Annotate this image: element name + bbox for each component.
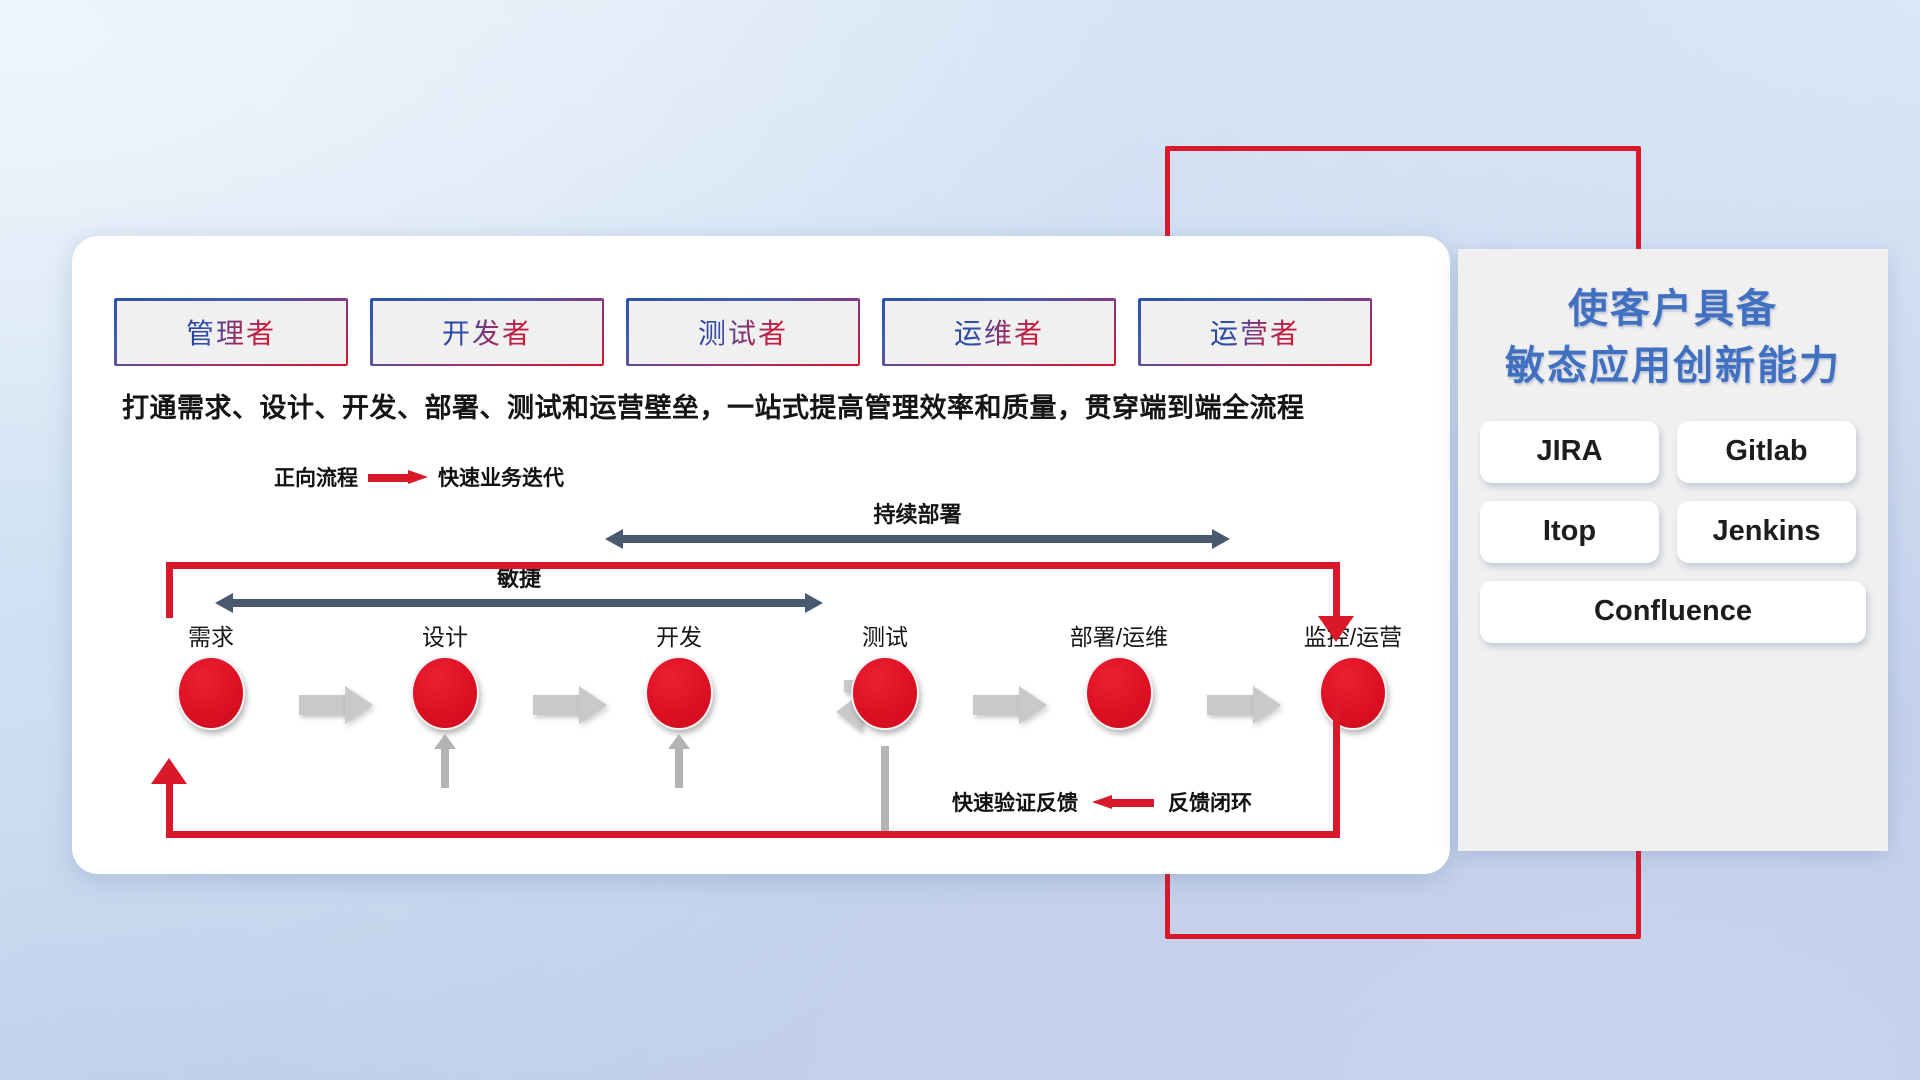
- panel-title: 使客户具备 敏态应用创新能力: [1458, 281, 1888, 395]
- panel-title-line-2: 敏态应用创新能力: [1458, 338, 1888, 395]
- tool-chip-itop[interactable]: Itop: [1480, 501, 1659, 563]
- role-chip-tester[interactable]: 测试者: [626, 298, 860, 366]
- pipeline-arrow-icon: [973, 686, 1047, 722]
- role-chip-operations[interactable]: 运营者: [1138, 298, 1372, 366]
- arrow-shaft: [973, 695, 1021, 715]
- arrow-shaft: [619, 535, 1216, 543]
- pipeline-node-label: 开发: [614, 618, 744, 652]
- pipeline-arrow-icon: [1207, 686, 1281, 722]
- double-arrow-icon: [605, 529, 1230, 549]
- loop-line-right-top: [1333, 562, 1340, 622]
- slide-canvas: 管理者 开发者 测试者 运维者 运营者 打通需求、设计、开发、部署、测试和运营壁…: [0, 0, 1920, 1080]
- headline-text: 打通需求、设计、开发、部署、测试和运营壁垒，一站式提高管理效率和质量，贯穿端到端…: [122, 386, 1422, 425]
- arrow-head-right-icon: [1253, 686, 1281, 724]
- role-chip-label: 运维者: [954, 312, 1044, 352]
- pipeline-node-design[interactable]: 设计: [380, 618, 510, 730]
- span-label: 持续部署: [605, 497, 1230, 529]
- panel-title-line-1: 使客户具备: [1458, 281, 1888, 338]
- pipeline-node-stem: [675, 746, 683, 788]
- pipeline-node-stem: [881, 746, 889, 833]
- pipeline-node-label: 设计: [380, 618, 510, 652]
- pipeline-node-label: 测试: [820, 618, 950, 652]
- arrow-shaft: [1207, 695, 1255, 715]
- arrow-head-right-icon: [579, 686, 607, 724]
- loop-line-top: [166, 562, 1340, 569]
- tool-chip-grid: JIRA Gitlab Itop Jenkins Confluence: [1480, 421, 1866, 643]
- pipeline-node-dot-icon: [851, 656, 919, 730]
- role-chip-developer[interactable]: 开发者: [370, 298, 604, 366]
- span-continuous-deployment: 持续部署: [605, 529, 1230, 549]
- arrow-left-red-icon: [1092, 795, 1154, 810]
- loop-arrowhead-down-icon: [1318, 616, 1354, 642]
- pipeline-arrow-icon: [299, 686, 373, 722]
- arrow-right-red-icon: [368, 470, 428, 485]
- role-chip-manager[interactable]: 管理者: [114, 298, 348, 366]
- role-chip-label: 测试者: [698, 312, 788, 352]
- role-chip-label: 管理者: [186, 312, 276, 352]
- legend-forward-source-label: 正向流程: [274, 462, 358, 492]
- stem-arrowhead-up-icon: [668, 734, 690, 749]
- legend-feedback-source-label: 反馈闭环: [1168, 787, 1252, 817]
- role-chip-label: 运营者: [1210, 312, 1300, 352]
- arrow-shaft: [299, 695, 347, 715]
- tool-chip-confluence[interactable]: Confluence: [1480, 581, 1866, 643]
- pipeline-node-dot-icon: [411, 656, 479, 730]
- tool-chip-jira[interactable]: JIRA: [1480, 421, 1659, 483]
- pipeline-node-dot-icon: [645, 656, 713, 730]
- loop-line-bottom: [166, 831, 1340, 838]
- loop-line-right-bottom: [1333, 701, 1340, 838]
- role-chip-row: 管理者 开发者 测试者 运维者 运营者: [114, 298, 1372, 366]
- role-chip-ops[interactable]: 运维者: [882, 298, 1116, 366]
- pipeline-arrow-icon: [533, 686, 607, 722]
- pipeline-row: 需求 设计 开发: [114, 596, 1414, 786]
- pipeline-node-requirements[interactable]: 需求: [146, 618, 276, 730]
- legend-forward-target-label: 快速业务迭代: [438, 462, 564, 492]
- pipeline-node-development[interactable]: 开发: [614, 618, 744, 730]
- pipeline-node-deploy-ops[interactable]: 部署/运维: [1054, 618, 1184, 730]
- arrow-head-right-icon: [1212, 529, 1230, 549]
- tool-chip-jenkins[interactable]: Jenkins: [1677, 501, 1856, 563]
- arrow-shaft: [533, 695, 581, 715]
- pipeline-node-label: 部署/运维: [1054, 618, 1184, 652]
- value-proposition-panel: 使客户具备 敏态应用创新能力 JIRA Gitlab Itop Jenkins …: [1458, 249, 1888, 851]
- arrow-head-right-icon: [345, 686, 373, 724]
- loop-line-left-bottom: [166, 784, 173, 838]
- legend-feedback-loop: 快速验证反馈 反馈闭环: [952, 787, 1252, 817]
- loop-line-left-top: [166, 562, 173, 618]
- stem-arrowhead-up-icon: [434, 734, 456, 749]
- main-diagram-card: 管理者 开发者 测试者 运维者 运营者 打通需求、设计、开发、部署、测试和运营壁…: [72, 236, 1450, 874]
- pipeline-node-dot-icon: [1085, 656, 1153, 730]
- pipeline-node-dot-icon: [1319, 656, 1387, 730]
- legend-forward-flow: 正向流程 快速业务迭代: [274, 462, 564, 492]
- pipeline-node-testing[interactable]: 测试: [820, 618, 950, 730]
- pipeline-node-stem: [441, 746, 449, 788]
- pipeline-node-dot-icon: [177, 656, 245, 730]
- loop-arrowhead-up-icon: [151, 758, 187, 784]
- pipeline-node-label: 需求: [146, 618, 276, 652]
- tool-chip-gitlab[interactable]: Gitlab: [1677, 421, 1856, 483]
- role-chip-label: 开发者: [442, 312, 532, 352]
- legend-feedback-target-label: 快速验证反馈: [952, 787, 1078, 817]
- arrow-head-right-icon: [1019, 686, 1047, 724]
